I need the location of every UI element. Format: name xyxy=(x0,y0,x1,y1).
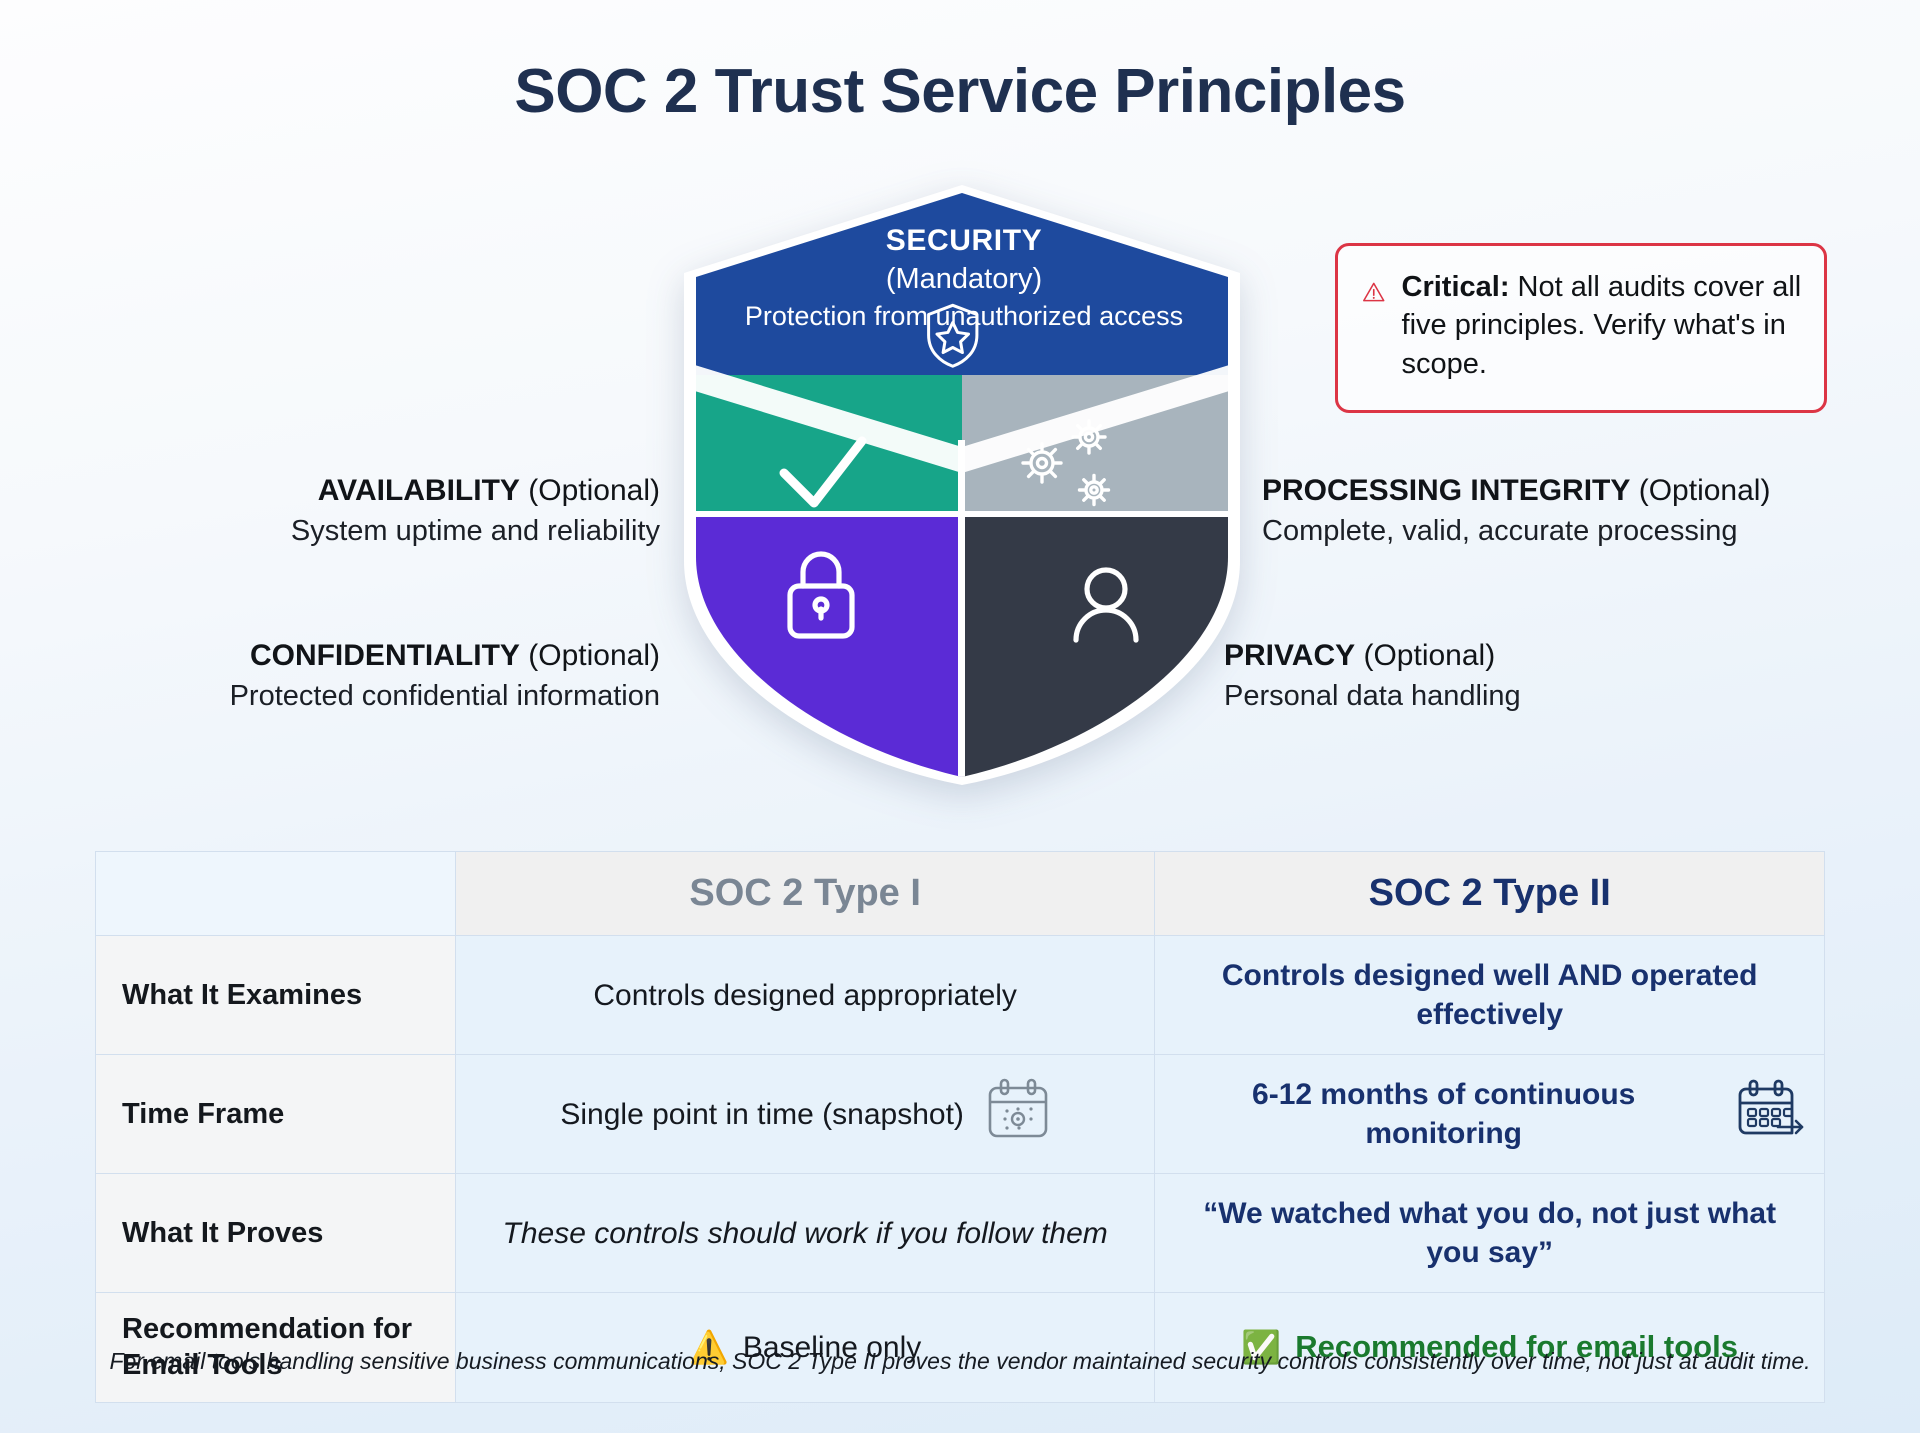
calendar-snapshot-icon xyxy=(986,1078,1050,1150)
label-availability-qualifier: (Optional) xyxy=(528,474,660,507)
table-row: What It Proves These controls should wor… xyxy=(96,1174,1825,1293)
label-privacy: PRIVACY (Optional) Personal data handlin… xyxy=(1224,637,1864,716)
calendar-continuous-icon xyxy=(1736,1078,1806,1150)
header-type2-label: SOC 2 Type II xyxy=(1369,872,1611,914)
label-privacy-desc: Personal data handling xyxy=(1224,678,1864,716)
label-confidentiality-desc: Protected confidential information xyxy=(40,678,660,716)
shield-divider-vertical-bottom xyxy=(958,515,965,785)
row-label-what-it-proves: What It Proves xyxy=(96,1174,456,1293)
label-availability-title: AVAILABILITY (Optional) xyxy=(60,472,660,510)
label-confidentiality-title: CONFIDENTIALITY (Optional) xyxy=(40,637,660,675)
header-type2: SOC 2 Type II xyxy=(1155,852,1825,936)
trust-principles-shield: SECURITY (Mandatory) Protection from una… xyxy=(672,185,1252,785)
table-header-row: SOC 2 Type I SOC 2 Type II xyxy=(96,852,1825,936)
label-availability-name: AVAILABILITY xyxy=(318,474,520,507)
label-availability-desc: System uptime and reliability xyxy=(60,513,660,551)
label-confidentiality-name: CONFIDENTIALITY xyxy=(250,639,520,672)
page-title: SOC 2 Trust Service Principles xyxy=(0,56,1920,127)
cell-timeframe-type2-text: 6-12 months of continuous monitoring xyxy=(1173,1075,1714,1153)
cell-proves-type1: These controls should work if you follow… xyxy=(455,1174,1155,1293)
label-processing-desc: Complete, valid, accurate processing xyxy=(1262,513,1902,551)
infographic-canvas: SOC 2 Trust Service Principles xyxy=(0,0,1920,1433)
label-processing-qualifier: (Optional) xyxy=(1639,474,1771,507)
header-type1: SOC 2 Type I xyxy=(455,852,1155,936)
row-label-time-frame: Time Frame xyxy=(96,1055,456,1174)
row-label-what-it-examines: What It Examines xyxy=(96,936,456,1055)
label-processing-name: PROCESSING INTEGRITY xyxy=(1262,474,1630,507)
footnote: For email tools handling sensitive busin… xyxy=(95,1348,1825,1375)
type-comparison-table: SOC 2 Type I SOC 2 Type II What It Exami… xyxy=(95,851,1825,1403)
label-confidentiality-qualifier: (Optional) xyxy=(528,639,660,672)
cell-examines-type1: Controls designed appropriately xyxy=(455,936,1155,1055)
critical-lead: Critical: xyxy=(1402,271,1510,303)
cell-timeframe-type1-text: Single point in time (snapshot) xyxy=(560,1095,964,1134)
header-type1-label: SOC 2 Type I xyxy=(689,872,921,914)
warning-triangle-icon xyxy=(1362,268,1386,316)
label-availability: AVAILABILITY (Optional) System uptime an… xyxy=(60,472,660,551)
cell-examines-type2: Controls designed well AND operated effe… xyxy=(1155,936,1825,1055)
cell-timeframe-type2: 6-12 months of continuous monitoring xyxy=(1155,1055,1825,1174)
label-processing-integrity: PROCESSING INTEGRITY (Optional) Complete… xyxy=(1262,472,1902,551)
header-blank xyxy=(96,852,456,936)
shield-svg xyxy=(672,185,1252,785)
cell-timeframe-type1: Single point in time (snapshot) xyxy=(455,1055,1155,1174)
table-row: Time Frame Single point in time (snapsho… xyxy=(96,1055,1825,1174)
label-privacy-qualifier: (Optional) xyxy=(1363,639,1495,672)
cell-proves-type2: “We watched what you do, not just what y… xyxy=(1155,1174,1825,1293)
table-row: What It Examines Controls designed appro… xyxy=(96,936,1825,1055)
critical-text: Critical: Not all audits cover all five … xyxy=(1402,268,1802,383)
label-processing-title: PROCESSING INTEGRITY (Optional) xyxy=(1262,472,1902,510)
critical-callout: Critical: Not all audits cover all five … xyxy=(1335,243,1827,413)
label-privacy-name: PRIVACY xyxy=(1224,639,1355,672)
label-privacy-title: PRIVACY (Optional) xyxy=(1224,637,1864,675)
label-confidentiality: CONFIDENTIALITY (Optional) Protected con… xyxy=(40,637,660,716)
shield-segment-privacy xyxy=(962,515,1252,785)
